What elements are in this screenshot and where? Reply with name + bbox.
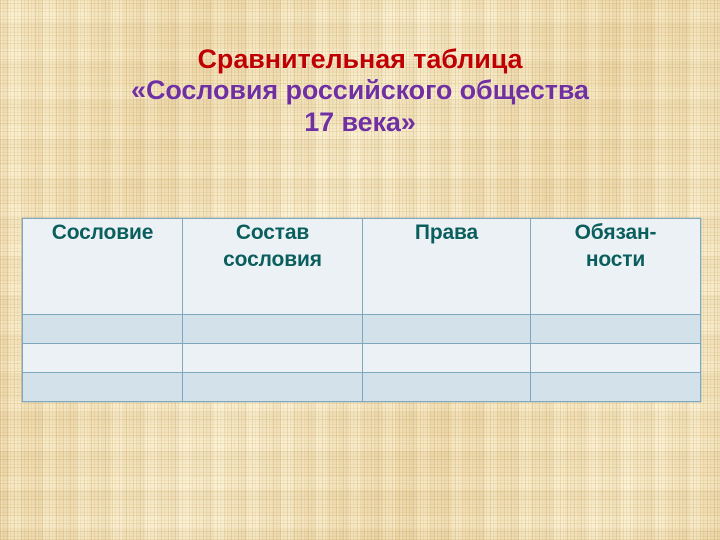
slide-background: Сравнительная таблица «Сословия российск…: [0, 0, 720, 540]
column-header-line1: Состав: [236, 221, 309, 244]
table-cell[interactable]: [363, 373, 531, 402]
column-header-sostav-sosloviya: Состав сословия: [183, 219, 363, 315]
column-header-line1: Обязан-: [575, 221, 657, 244]
table-header-row: Сословие Состав сословия Права Обязан- н…: [23, 219, 701, 315]
table-row[interactable]: [23, 344, 701, 373]
slide-title: Сравнительная таблица «Сословия российск…: [0, 44, 720, 138]
table-cell[interactable]: [183, 315, 363, 344]
column-header-line1: Права: [415, 221, 478, 244]
table-cell[interactable]: [531, 315, 701, 344]
title-line-2: «Сословия российского общества: [0, 75, 720, 106]
table-cell[interactable]: [183, 344, 363, 373]
column-header-soslovie: Сословие: [23, 219, 183, 315]
table-cell[interactable]: [23, 373, 183, 402]
column-header-line2: ности: [586, 248, 645, 271]
table-row[interactable]: [23, 315, 701, 344]
table-row[interactable]: [23, 373, 701, 402]
table-cell[interactable]: [531, 344, 701, 373]
table-cell[interactable]: [363, 344, 531, 373]
column-header-prava: Права: [363, 219, 531, 315]
table-cell[interactable]: [531, 373, 701, 402]
title-line-1: Сравнительная таблица: [0, 44, 720, 75]
column-header-line2: сословия: [223, 248, 322, 271]
column-header-obyazannosti: Обязан- ности: [531, 219, 701, 315]
table-cell[interactable]: [183, 373, 363, 402]
table-cell[interactable]: [363, 315, 531, 344]
title-line-3: 17 века»: [0, 107, 720, 138]
table-cell[interactable]: [23, 344, 183, 373]
table-cell[interactable]: [23, 315, 183, 344]
column-header-line1: Сословие: [52, 221, 154, 244]
comparison-table: Сословие Состав сословия Права Обязан- н…: [22, 218, 701, 402]
